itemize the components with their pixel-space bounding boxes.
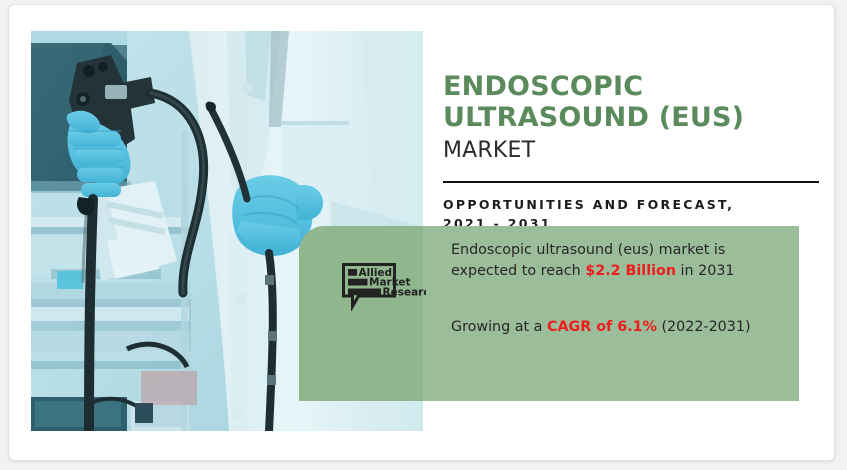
subtitle-line-1: OPPORTUNITIES AND FORECAST, xyxy=(443,197,734,212)
report-cover-card: ENDOSCOPIC ULTRASOUND (EUS) MARKET OPPOR… xyxy=(8,4,835,461)
stats-panel: Allied Market Research Endoscopic ultras… xyxy=(299,226,799,401)
stat2-suffix: (2022-2031) xyxy=(657,319,751,335)
page-title: ENDOSCOPIC ULTRASOUND (EUS) xyxy=(443,31,823,134)
stat1-highlight: $2.2 Billion xyxy=(585,263,676,279)
stat2-prefix: Growing at a xyxy=(451,319,547,335)
stat-line-market-value: Endoscopic ultrasound (eus) market is ex… xyxy=(451,240,786,282)
header-column: ENDOSCOPIC ULTRASOUND (EUS) MARKET OPPOR… xyxy=(443,31,823,234)
title-divider xyxy=(443,181,819,183)
stat2-highlight: CAGR of 6.1% xyxy=(547,319,657,335)
stats-panel-overlay-tint xyxy=(299,226,423,401)
stat1-suffix: in 2031 xyxy=(676,263,735,279)
logo-text-research: Research xyxy=(383,286,427,298)
page-title-market: MARKET xyxy=(443,134,823,163)
stat-line-cagr: Growing at a CAGR of 6.1% (2022-2031) xyxy=(451,317,786,338)
title-line-1: ENDOSCOPIC xyxy=(443,71,643,102)
stats-text: Endoscopic ultrasound (eus) market is ex… xyxy=(451,240,786,338)
title-line-2: ULTRASOUND (EUS) xyxy=(443,102,744,133)
allied-market-research-logo: Allied Market Research xyxy=(342,263,426,311)
allied-market-research-logo-icon: Allied Market Research xyxy=(342,263,426,311)
